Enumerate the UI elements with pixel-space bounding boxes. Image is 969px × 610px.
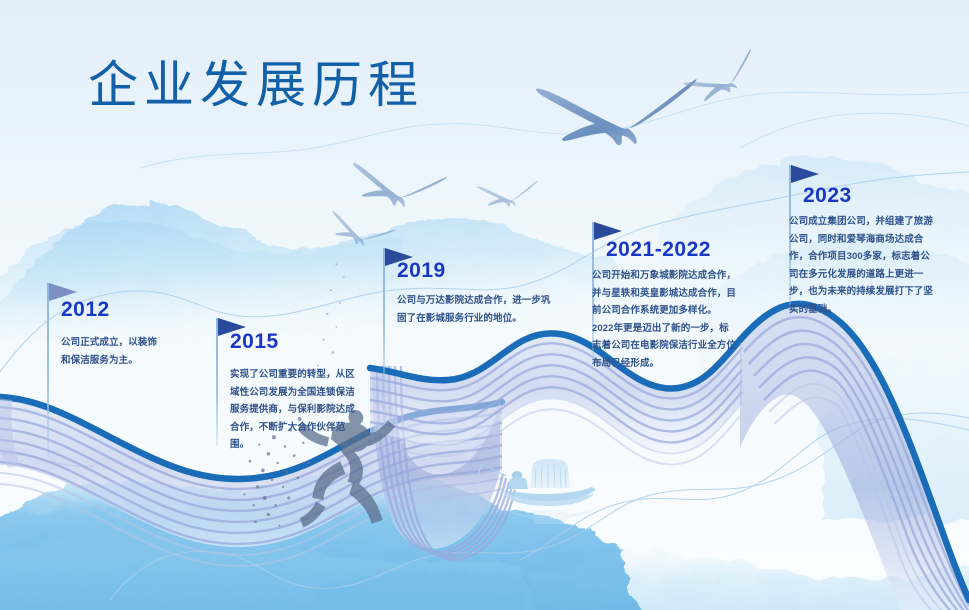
milestone-line: 并与星轶和英皇影城达成合作，目 — [592, 285, 744, 303]
milestone-line: 步，也为未来的持续发展打下了坚 — [789, 283, 941, 301]
ribbon-segment-right — [740, 304, 969, 610]
milestone-line: 合作，不断扩大合作伙伴范 — [230, 419, 370, 437]
milestone-text-2019: 公司与万达影院达成合作，进一步巩 固了在影城服务行业的地位。 — [397, 292, 567, 327]
milestone-line: 布局已经形成。 — [592, 355, 744, 373]
milestone-line: 公司与万达影院达成合作，进一步巩 — [397, 292, 567, 310]
flag-icon-2023 — [791, 165, 819, 183]
mountain-wash-bottom-right — [520, 553, 969, 610]
milestone-year-2023: 2023 — [803, 185, 852, 206]
poster-canvas: 企业发展历程 2012 公司正式成立，以装饰 和保洁服务为主。 2015 实现了… — [0, 0, 969, 610]
milestone-text-2023: 公司成立集团公司，并组建了旅游 公司，同时和爱琴海商场达成合 作，合作项目300… — [789, 213, 941, 318]
milestone-text-2021-2022: 公司开始和万象城影院达成合作， 并与星轶和英皇影城达成合作，目 前公司合作系统更… — [592, 267, 744, 372]
mountain-wash-bottom-left-2 — [0, 530, 540, 610]
flagpole-2015 — [216, 318, 218, 446]
cloud-wash-right-3 — [820, 339, 969, 520]
milestone-text-2015: 实现了公司重要的转型，从区 域性公司发展为全国连锁保洁 服务提供商，与保利影院达… — [230, 366, 370, 454]
milestone-line: 服务提供商，与保利影院达成 — [230, 401, 370, 419]
page-title: 企业发展历程 — [88, 58, 424, 113]
milestone-line: 司在多元化发展的道路上更进一 — [789, 266, 941, 284]
milestone-line: 2022年更是迈出了新的一步，标 — [592, 320, 744, 338]
milestone-line: 域性公司发展为全国连锁保洁 — [230, 384, 370, 402]
milestone-year-2015: 2015 — [230, 331, 279, 352]
milestone-line: 围。 — [230, 436, 370, 454]
milestone-line: 公司，同时和爱琴海商场达成合 — [789, 231, 941, 249]
milestone-year-2012: 2012 — [61, 299, 110, 320]
milestone-line: 实现了公司重要的转型，从区 — [230, 366, 370, 384]
bird-medium-left — [348, 163, 447, 212]
mountain-wash-bottom-left — [0, 469, 640, 610]
bird-top-right — [683, 48, 764, 110]
flagpole-2019 — [383, 248, 385, 390]
milestone-text-2012: 公司正式成立，以装饰 和保洁服务为主。 — [61, 334, 191, 369]
milestone-line: 公司开始和万象城影院达成合作， — [592, 267, 744, 285]
mountain-wash-bottom-center — [300, 571, 640, 610]
milestone-line: 固了在影城服务行业的地位。 — [397, 310, 567, 328]
bird-large — [536, 77, 701, 150]
milestone-line: 作，合作项目300多家，标志着公 — [789, 248, 941, 266]
milestone-line: 公司成立集团公司，并组建了旅游 — [789, 213, 941, 231]
ribbon-segment-twist — [372, 366, 515, 560]
bird-small-center — [477, 180, 540, 210]
milestone-line: 公司正式成立，以装饰 — [61, 334, 191, 352]
milestone-line: 实的基础。 — [789, 301, 941, 319]
flagpole-2012 — [47, 283, 49, 458]
milestone-year-2019: 2019 — [397, 260, 446, 281]
milestone-year-2021-2022: 2021-2022 — [606, 239, 711, 260]
milestone-line: 志着公司在电影院保洁行业全方位 — [592, 337, 744, 355]
milestone-line: 前公司合作系统更加多样化。 — [592, 302, 744, 320]
ribbon-fold-left-edge — [0, 398, 20, 468]
milestone-line: 和保洁服务为主。 — [61, 352, 191, 370]
